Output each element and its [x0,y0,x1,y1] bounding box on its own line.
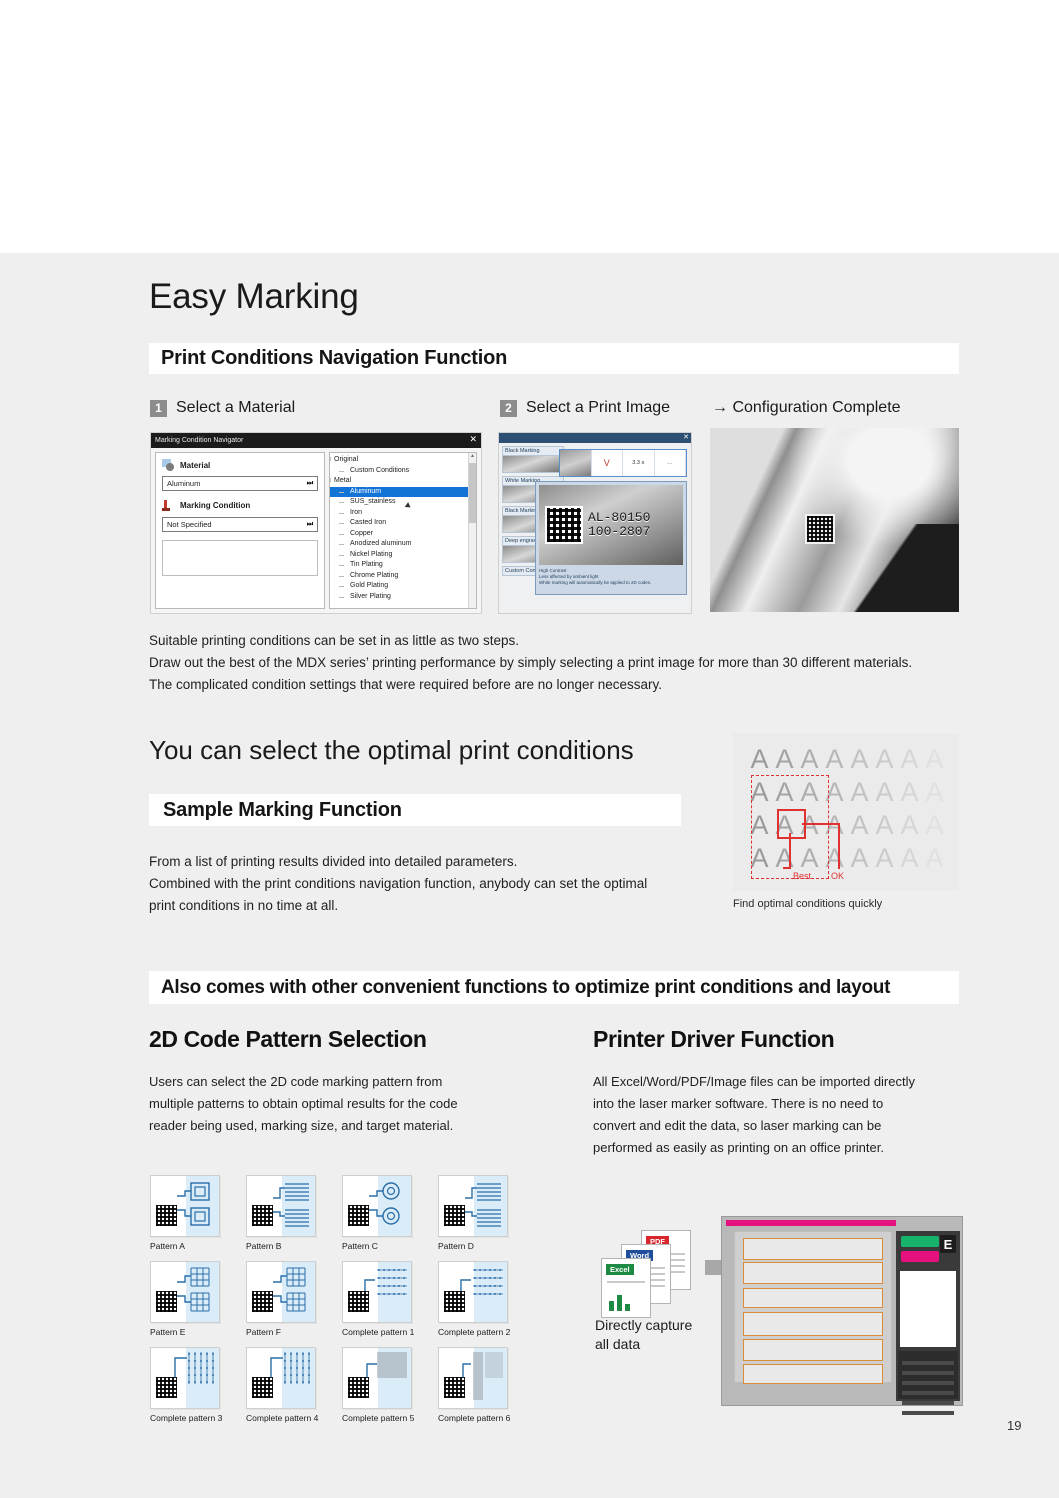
page-number: 19 [1007,1418,1021,1433]
marking-condition-select[interactable]: Not Specified ⏭ [162,517,318,532]
sample-letter: A [747,743,772,776]
datamatrix-code-icon [252,1291,273,1312]
pattern-label: Pattern B [246,1241,342,1251]
pattern-cell[interactable]: Pattern A [150,1175,246,1261]
pattern-cell[interactable]: Pattern E [150,1261,246,1347]
sample-letter: A [772,743,797,776]
sample-letter: A [847,809,872,842]
best-leader-line [789,833,791,869]
pattern-label: Complete pattern 6 [438,1413,534,1423]
chooser-titlebar: ✕ [499,433,691,443]
pattern-thumbnail[interactable] [150,1175,220,1237]
sample-letter: A [847,743,872,776]
sample-letter: A [872,743,897,776]
2d-code-pattern-heading: 2D Code Pattern Selection [149,1026,427,1053]
sample-letter: A [872,842,897,875]
dialog-body: Material Aluminum ⏭ Marking Condition No… [151,448,481,613]
dialog-titlebar: Marking Condition Navigator ✕ [151,433,481,448]
material-icon [162,459,175,471]
pattern-cell[interactable]: Complete pattern 2 [438,1261,534,1347]
page-title: Easy Marking [149,277,359,317]
ok-label: OK [831,871,844,881]
pattern-label: Pattern E [150,1327,246,1337]
excel-file-icon: Excel [601,1258,651,1318]
pattern-thumbnail[interactable] [438,1175,508,1237]
pattern-cell[interactable]: Complete pattern 3 [150,1347,246,1433]
pattern-thumbnail[interactable] [246,1261,316,1323]
material-group: Material [162,459,318,471]
preview-code-line-2: 100-2807 [588,524,650,539]
tree-node-selected[interactable]: Aluminum [330,487,476,498]
best-leader-tick [783,867,791,869]
pattern-cell[interactable]: Pattern B [246,1175,342,1261]
pattern-label: Complete pattern 4 [246,1413,342,1423]
datamatrix-code-icon [348,1205,369,1226]
scroll-up-icon[interactable]: ▲ [470,453,475,459]
selected-condition-row[interactable]: V 3.3 s … [559,449,687,477]
tree-node[interactable]: Iron [330,508,476,519]
pattern-label: Pattern C [342,1241,438,1251]
pattern-label: Complete pattern 2 [438,1327,534,1337]
dialog-title: Marking Condition Navigator [155,437,243,444]
close-icon[interactable]: ✕ [469,435,477,444]
row-more[interactable]: … [655,450,687,476]
row-graph: V [592,450,624,476]
tree-node[interactable]: Tin Plating [330,560,476,571]
datamatrix-code-icon [156,1205,177,1226]
thermometer-icon [162,499,175,512]
pattern-cell[interactable]: Pattern C [342,1175,438,1261]
pattern-cell[interactable]: Pattern D [438,1175,534,1261]
datamatrix-code-icon [252,1205,273,1226]
sample-letter: A [847,842,872,875]
step-1: 1 Select a Material [150,399,295,417]
properties-panel [898,1351,958,1399]
step-2-label: Select a Print Image [526,399,670,417]
section-bar-title: Sample Marking Function [149,799,402,822]
step-2-badge: 2 [500,400,517,417]
scrollbar-thumb[interactable] [469,463,476,523]
preview-placeholder [162,540,318,576]
datamatrix-code-icon [348,1291,369,1312]
printer-driver-heading: Printer Driver Function [593,1026,834,1053]
pattern-label: Pattern D [438,1241,534,1251]
sample-letter: A [897,743,922,776]
pattern-thumbnail[interactable] [438,1347,508,1409]
pattern-label: Complete pattern 1 [342,1327,438,1337]
datamatrix-code-icon [252,1377,273,1398]
sample-letter: A [922,842,947,875]
pattern-label: Complete pattern 3 [150,1413,246,1423]
pattern-thumbnail[interactable] [150,1347,220,1409]
logo-icon: E [940,1235,956,1253]
material-group-label: Material [180,461,210,470]
software-toolbar [726,1220,896,1226]
datamatrix-code-icon [156,1291,177,1312]
pattern-thumbnail[interactable] [438,1261,508,1323]
print-image-preview-popup: AL-80150 100-2807 High Contrast Less aff… [535,481,687,595]
marking-condition-value: Not Specified [167,520,212,529]
tree-node[interactable]: Nickel Plating [330,550,476,561]
figure-caption: Directly capture all data [595,1316,692,1354]
sample-letter: A [897,842,922,875]
label-block [743,1364,883,1384]
section-bar-other-functions: Also comes with other convenient functio… [149,971,959,1004]
sample-letter: A [922,809,947,842]
material-select[interactable]: Aluminum ⏭ [162,476,318,491]
label-block [743,1339,883,1361]
step-result: → Configuration Complete [712,399,901,417]
sample-marking-figure: AAAAAAAAAAAAAAAAAAAAAAAAAAAAAAAA Best OK [733,733,959,891]
pattern-cell[interactable]: Complete pattern 1 [342,1261,438,1347]
label-block [743,1262,883,1284]
pattern-label: Pattern F [246,1327,342,1337]
datamatrix-code-icon [545,506,583,544]
sample-letter: A [897,776,922,809]
sample-letter: A [797,743,822,776]
label-block [743,1288,883,1308]
datamatrix-code-icon [444,1377,465,1398]
tree-node[interactable]: Anodized aluminum [330,539,476,550]
material-value: Aluminum [167,479,200,488]
pattern-label: Complete pattern 5 [342,1413,438,1423]
graph-icon: V [604,458,610,468]
step-1-label: Select a Material [176,399,295,417]
preview-notes: High Contrast Less affected by ambient l… [539,565,683,586]
datamatrix-code-icon [444,1291,465,1312]
datamatrix-code-icon [805,514,835,544]
software-right-panel: E [896,1231,960,1401]
row-thumbnail [560,450,592,476]
section1-paragraph: Suitable printing conditions can be set … [149,630,979,696]
object-list[interactable] [900,1271,956,1347]
ok-leader-stem [838,823,840,869]
pattern-thumbnail[interactable] [246,1175,316,1237]
sample-letter: A [922,776,947,809]
2d-code-pattern-paragraph: Users can select the 2D code marking pat… [149,1071,499,1137]
step-1-badge: 1 [150,400,167,417]
printer-driver-paragraph: All Excel/Word/PDF/Image files can be im… [593,1071,963,1159]
chevron-right-icon: ⏭ [307,480,313,488]
pattern-thumbnail[interactable] [246,1347,316,1409]
pattern-cell[interactable]: Complete pattern 6 [438,1347,534,1433]
label-block [743,1312,883,1336]
pattern-label: Pattern A [150,1241,246,1251]
material-tree-panel[interactable]: Original Custom Conditions Metal Aluminu… [329,452,477,609]
datamatrix-code-icon [444,1205,465,1226]
step-result-label: → Configuration Complete [712,399,901,417]
datamatrix-code-icon [348,1377,369,1398]
pattern-thumbnail[interactable] [342,1347,412,1409]
best-label: Best [793,871,811,881]
row-time: 3.3 s [623,450,655,476]
step-2: 2 Select a Print Image [500,399,670,417]
print-image-chooser-screenshot: ✕ Black Marking White Marking Black Mark… [498,432,692,614]
section-bar-print-conditions: Print Conditions Navigation Function [149,343,959,374]
tree-node[interactable]: Casted Iron [330,518,476,529]
tree-node[interactable]: Original [330,455,476,466]
pattern-cell[interactable]: Pattern F [246,1261,342,1347]
ok-leader-line [802,823,840,825]
tree-node[interactable]: Copper [330,529,476,540]
preview-code-line-1: AL-80150 [588,510,650,525]
marking-condition-navigator-screenshot: Marking Condition Navigator ✕ Material A… [150,432,482,614]
sample-letter: A [872,776,897,809]
preview-code: AL-80150 100-2807 [588,511,650,539]
sample-letter: A [897,809,922,842]
marking-condition-group: Marking Condition [162,499,318,512]
tree-scrollbar[interactable]: ▲ [468,453,476,608]
section-bar-title: Print Conditions Navigation Function [149,347,507,370]
sample-letter: A [922,743,947,776]
excel-label: Excel [606,1264,634,1275]
tree-node[interactable]: SUS_stainless [330,497,476,508]
shadow-region [844,524,959,612]
pattern-cell[interactable]: Complete pattern 5 [342,1347,438,1433]
section2-heading: You can select the optimal print conditi… [149,735,634,766]
pattern-cell[interactable]: Complete pattern 4 [246,1347,342,1433]
tree-node[interactable]: Chrome Plating [330,571,476,582]
printer-driver-figure: PDF Word Excel Directly capture all data [593,1216,963,1412]
sample-letter: A [872,809,897,842]
pattern-thumbnail[interactable] [342,1175,412,1237]
datamatrix-code-icon [156,1377,177,1398]
tree-node[interactable]: Metal [330,476,476,487]
label-block [743,1238,883,1260]
sample-letter: A [822,743,847,776]
material-tree[interactable]: Original Custom Conditions Metal Aluminu… [330,453,476,602]
preview-photo: AL-80150 100-2807 [539,485,683,565]
tree-node[interactable]: Gold Plating [330,581,476,592]
file-icons-group: PDF Word Excel [601,1230,693,1302]
tree-node[interactable]: Custom Conditions [330,466,476,477]
pink-button[interactable] [901,1251,939,1262]
green-button[interactable] [901,1236,939,1247]
chevron-right-icon: ⏭ [307,521,313,529]
figure-caption: Find optimal conditions quickly [733,898,882,910]
list-item[interactable]: Black Marking [502,446,564,473]
software-canvas [734,1231,892,1383]
pattern-grid: Pattern A Pattern B Pattern C Pattern D [150,1175,534,1433]
laser-marker-software-screenshot: E [721,1216,963,1406]
list-item-label: Black Marking [502,446,564,456]
marked-part-photo [710,428,959,612]
marking-condition-group-label: Marking Condition [180,501,250,510]
page-content: Easy Marking Print Conditions Navigation… [0,0,1059,1498]
tree-node[interactable]: Silver Plating [330,592,476,603]
section2-paragraph: From a list of printing results divided … [149,851,689,917]
pattern-thumbnail[interactable] [342,1261,412,1323]
section-bar-title: Also comes with other convenient functio… [149,977,890,999]
list-item-thumbnail [502,456,564,473]
sample-letter: A [847,776,872,809]
dialog-left-panel: Material Aluminum ⏭ Marking Condition No… [155,452,325,609]
close-icon[interactable]: ✕ [683,433,689,442]
pattern-thumbnail[interactable] [150,1261,220,1323]
section-bar-sample-marking: Sample Marking Function [149,794,681,826]
